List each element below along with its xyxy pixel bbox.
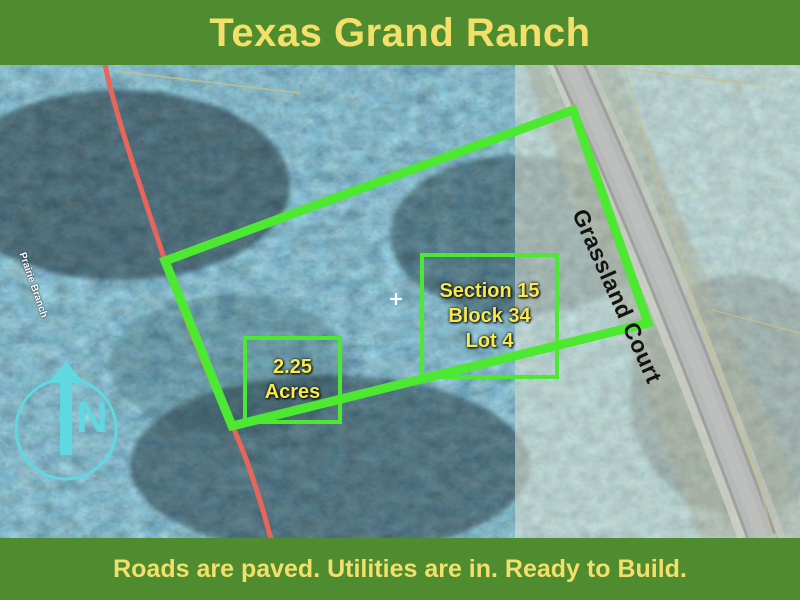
footer-banner: Roads are paved. Utilities are in. Ready… [0, 538, 800, 600]
footer-tagline: Roads are paved. Utilities are in. Ready… [113, 557, 687, 582]
aerial-map[interactable]: Section 15 Block 34 Lot 4 2.25 Acres Gra… [0, 65, 800, 538]
lot-label: Lot 4 [466, 329, 514, 354]
compass-rose: N [14, 342, 118, 446]
page-title: Texas Grand Ranch [209, 13, 590, 53]
lot-info-box: Section 15 Block 34 Lot 4 [420, 253, 559, 379]
block-label: Block 34 [448, 304, 530, 329]
header-banner: Texas Grand Ranch [0, 0, 800, 65]
svg-text:N: N [76, 393, 108, 442]
acreage-value: 2.25 [273, 355, 312, 380]
north-arrow-icon: N [14, 342, 118, 446]
lot-listing-image: Texas Grand Ranch [0, 0, 800, 600]
crosshair-icon [389, 292, 403, 306]
acreage-box: 2.25 Acres [243, 336, 342, 424]
acreage-unit: Acres [265, 380, 321, 405]
section-label: Section 15 [439, 279, 539, 304]
